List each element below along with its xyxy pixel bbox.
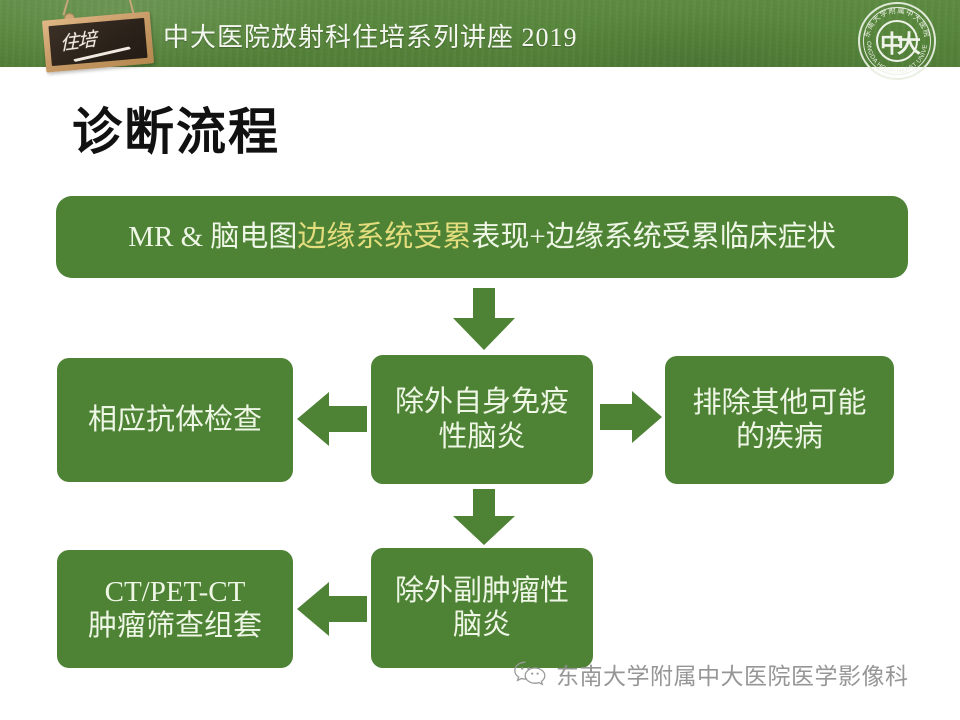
arrow-right-icon-autoimmune-to-other-disease [600, 388, 662, 446]
flow-box-exclude-autoimmune: 除外自身免疫 性脑炎 [371, 355, 593, 484]
wechat-watermark: 东南大学附属中大医院医学影像科 [513, 657, 909, 691]
wechat-watermark-label: 东南大学附属中大医院医学影像科 [556, 657, 909, 691]
flow-box-top-criteria: MR & 脑电图边缘系统受累表现+边缘系统受累临床症状 [56, 196, 908, 278]
flow-box-autoimmune-text: 除外自身免疫 性脑炎 [395, 385, 569, 453]
flow-ctpet-line1: CT/PET-CT [105, 575, 246, 609]
flow-paraneoplastic-line2: 脑炎 [395, 608, 569, 642]
flow-box-exclude-other-disease: 排除其他可能 的疾病 [665, 356, 894, 484]
wechat-icon [513, 660, 547, 688]
flow-autoimmune-line1: 除外自身免疫 [395, 385, 569, 419]
flow-antibody-line1: 相应抗体检查 [88, 403, 262, 437]
arrow-left-icon-paraneoplastic-to-ctpet [297, 578, 367, 640]
flow-box-antibody-text: 相应抗体检查 [88, 403, 262, 437]
flow-box-top-text: MR & 脑电图边缘系统受累表现+边缘系统受累临床症状 [128, 220, 836, 254]
seal-center-glyph: 中大 [858, 2, 936, 80]
flow-top-highlight: 边缘系统受累 [297, 221, 471, 253]
flow-other-disease-line2: 的疾病 [692, 420, 866, 454]
flow-box-paraneoplastic-text: 除外副肿瘤性 脑炎 [395, 574, 569, 642]
flow-other-disease-line1: 排除其他可能 [692, 386, 866, 420]
chalkboard-face: 住培 [48, 18, 147, 66]
flow-top-prefix: MR & 脑电图 [128, 221, 297, 253]
chalkboard-decoration: 住培 [24, 0, 164, 74]
flow-box-antibody-test: 相应抗体检查 [57, 358, 293, 482]
flow-top-suffix: 表现+边缘系统受累临床症状 [471, 221, 835, 253]
hospital-logo-seal: 东南大学附属中大医院 ZHONGDA HOSPITAL SOUTHEAST UN… [858, 2, 936, 80]
flow-box-other-disease-text: 排除其他可能 的疾病 [692, 386, 866, 454]
flow-box-exclude-paraneoplastic: 除外副肿瘤性 脑炎 [371, 548, 593, 668]
arrow-left-icon-autoimmune-to-antibody [297, 388, 367, 450]
arrow-down-icon-autoimmune-to-paraneoplastic [447, 489, 521, 545]
header-title: 中大医院放射科住培系列讲座 2019 [163, 17, 578, 54]
flow-ctpet-line2: 肿瘤筛查组套 [88, 609, 262, 643]
flow-box-ct-pet-screening: CT/PET-CT 肿瘤筛查组套 [57, 550, 293, 668]
slide-title: 诊断流程 [72, 92, 280, 164]
flow-paraneoplastic-line1: 除外副肿瘤性 [395, 574, 569, 608]
chalkboard-calligraphy-text: 住培 [59, 24, 96, 56]
flow-autoimmune-line2: 性脑炎 [395, 420, 569, 454]
chalkboard-frame: 住培 [42, 11, 154, 72]
arrow-down-icon-top-to-autoimmune [447, 288, 521, 350]
